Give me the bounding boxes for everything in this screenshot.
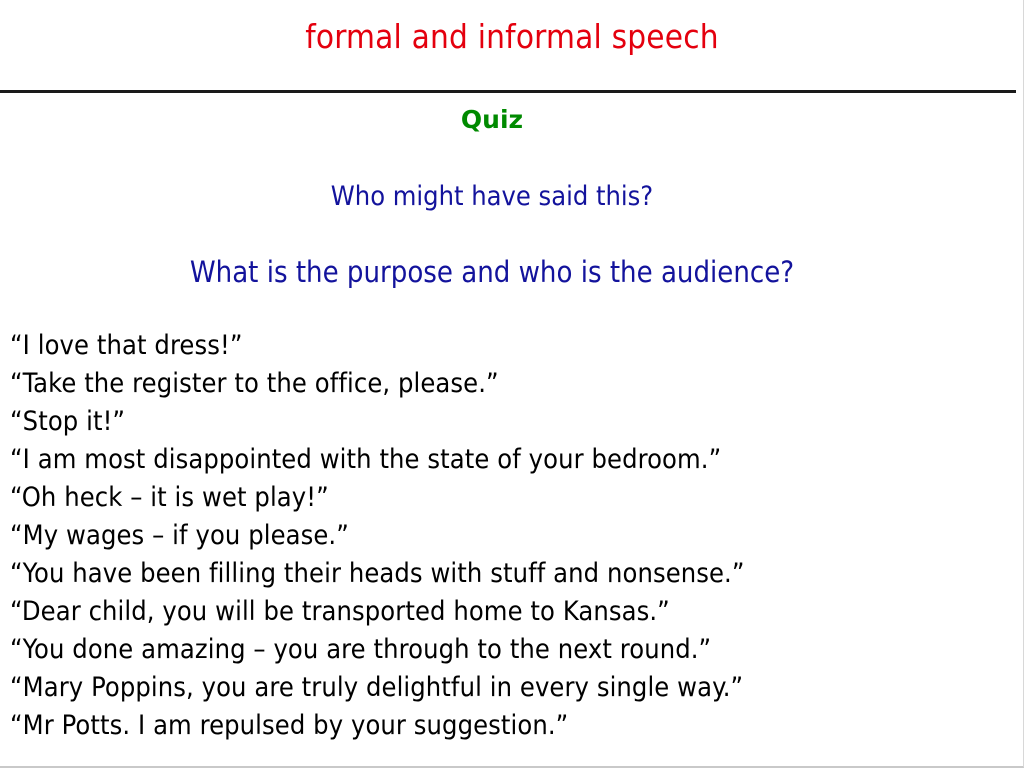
list-item: “Dear child, you will be transported hom… [10,593,1010,631]
list-item: “You done amazing – you are through to t… [10,631,1010,669]
list-item: “Stop it!” [10,403,1010,441]
list-item: “Oh heck – it is wet play!” [10,479,1010,517]
question-purpose-audience: What is the purpose and who is the audie… [0,254,984,290]
list-item: “You have been filling their heads with … [10,555,1010,593]
list-item: “I am most disappointed with the state o… [10,441,1010,479]
list-item: “Mr Potts. I am repulsed by your suggest… [10,707,1010,745]
list-item: “My wages – if you please.” [10,517,1010,555]
list-item: “Take the register to the office, please… [10,365,1010,403]
question-who-said-this: Who might have said this? [0,180,984,214]
slide-canvas: formal and informal speech Quiz Who migh… [0,0,1024,768]
title-divider [0,90,1016,93]
list-item: “Mary Poppins, you are truly delightful … [10,669,1010,707]
list-item: “I love that dress!” [10,327,1010,365]
quote-list: “I love that dress!” “Take the register … [10,327,1010,745]
page-title: formal and informal speech [0,17,1024,57]
quiz-heading: Quiz [0,104,984,136]
